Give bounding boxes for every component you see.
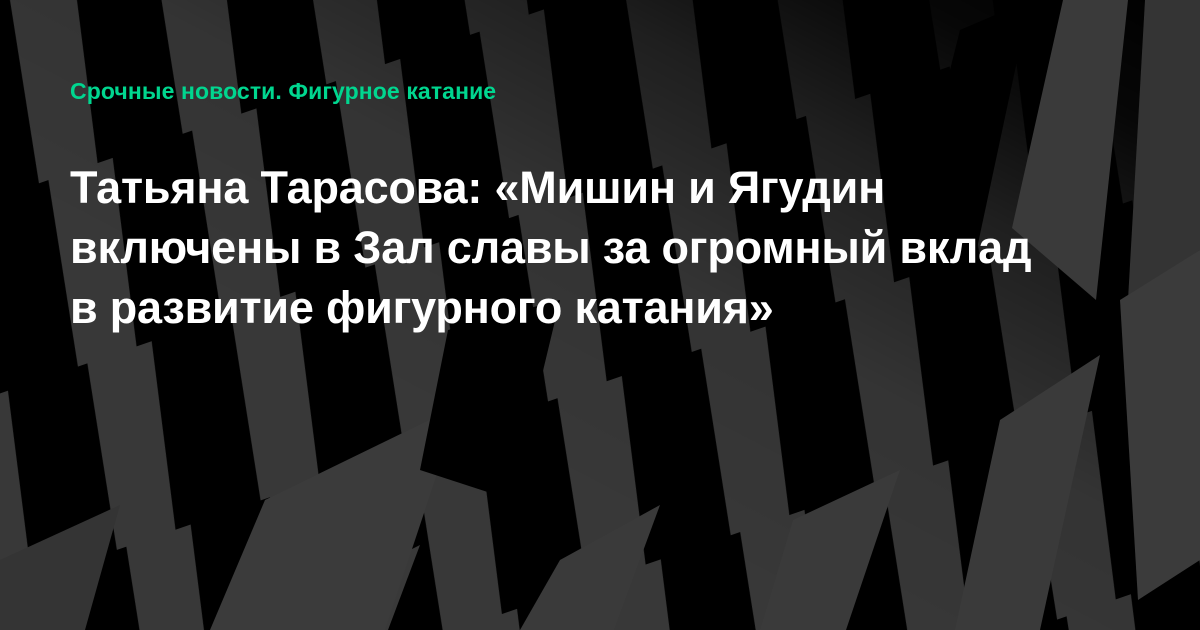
page-title: Татьяна Тарасова: «Мишин и Ягудин включе…	[70, 158, 1140, 338]
category-eyebrow[interactable]: Срочные новости. Фигурное катание	[70, 78, 496, 106]
card-content: Срочные новости. Фигурное катание Татьян…	[0, 0, 1200, 630]
headline-line-2: включены в Зал славы за огромный вклад	[70, 218, 1140, 278]
headline-line-1: Татьяна Тарасова: «Мишин и Ягудин	[70, 158, 1140, 218]
news-card: Срочные новости. Фигурное катание Татьян…	[0, 0, 1200, 630]
headline-line-3: в развитие фигурного катания»	[70, 278, 1140, 338]
